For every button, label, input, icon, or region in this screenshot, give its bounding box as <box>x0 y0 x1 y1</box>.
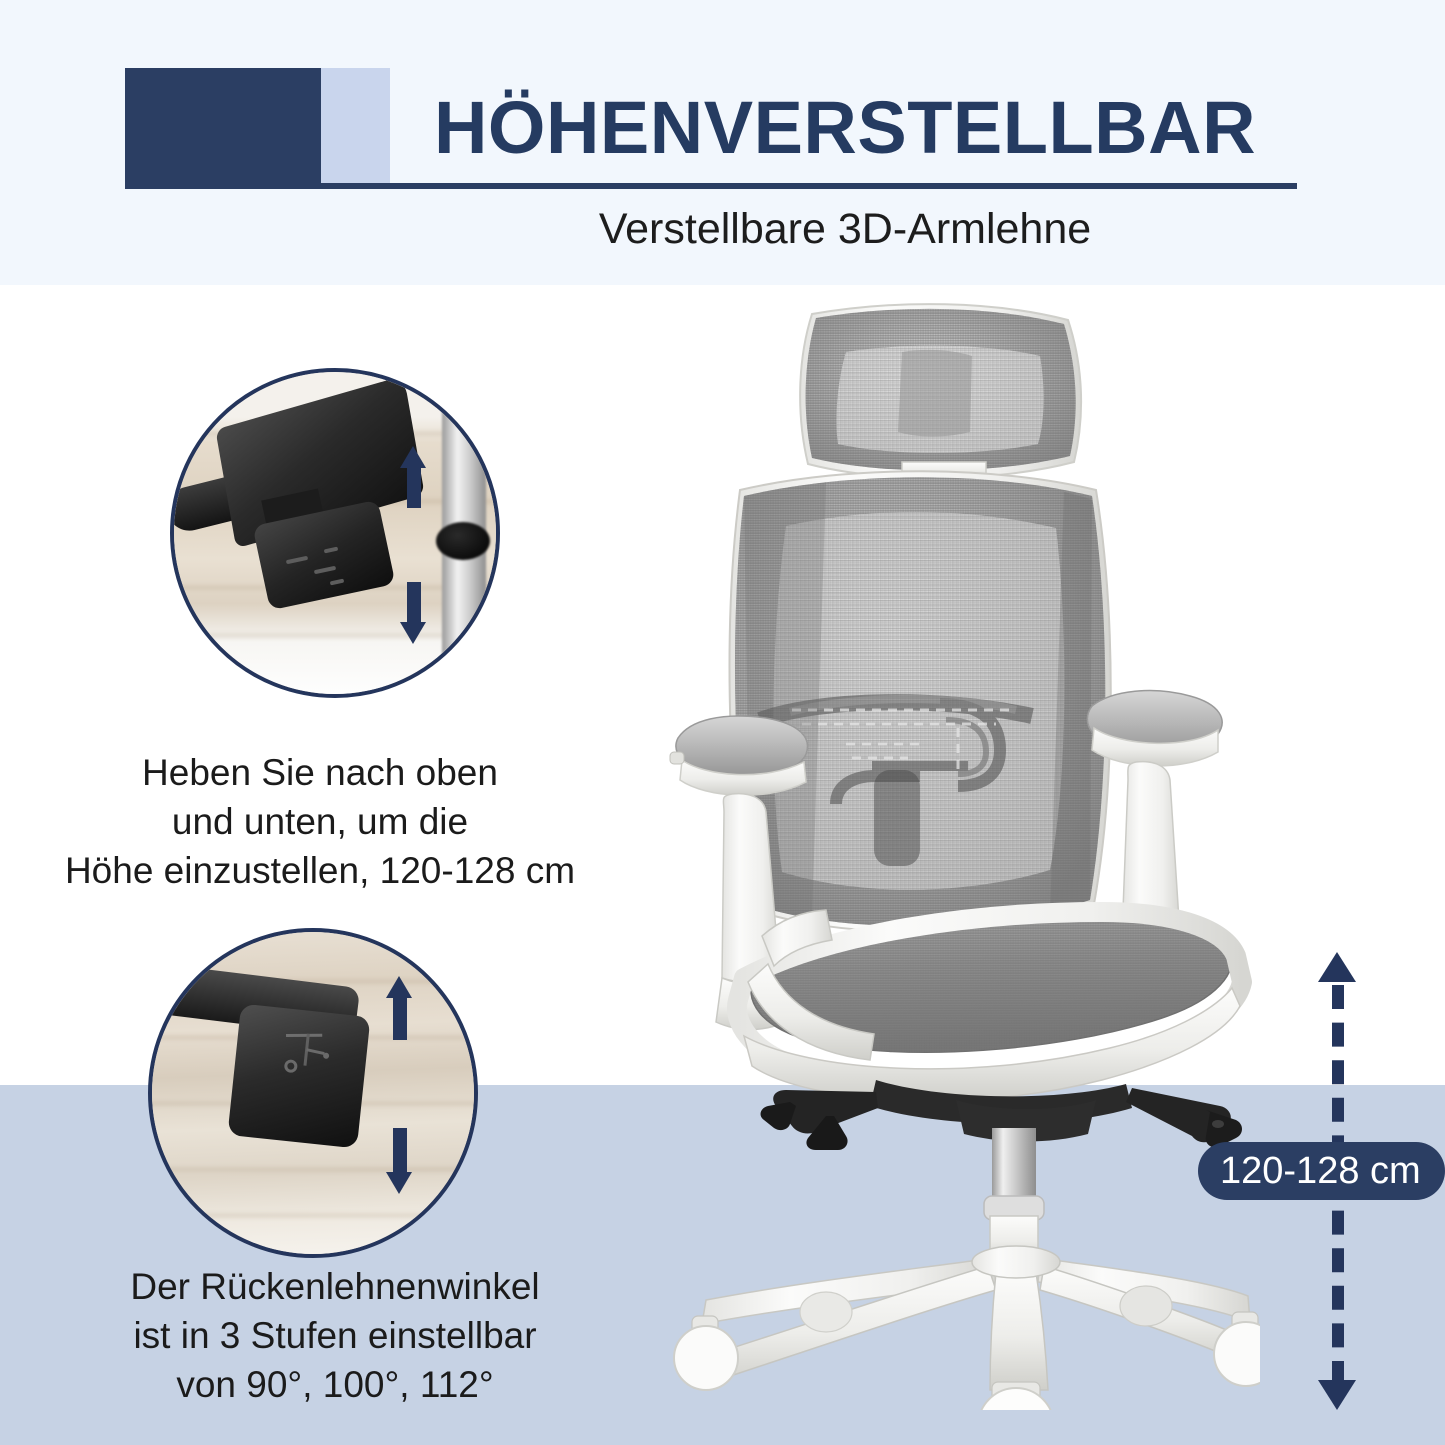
up-arrow-icon <box>386 976 412 1040</box>
caption-line: Höhe einzustellen, 120-128 cm <box>20 846 620 895</box>
measurement-arrow-up-icon <box>1318 952 1356 982</box>
header-divider-rule <box>125 183 1297 189</box>
caption-line: und unten, um die <box>20 797 620 846</box>
chair-caster <box>674 1316 738 1390</box>
header-accent-block-light <box>321 68 390 186</box>
chair-gas-lift-column <box>984 1128 1044 1262</box>
chair-base <box>674 1246 1260 1410</box>
detail-callout-arm-height-lever <box>170 368 500 698</box>
chair-seat <box>737 908 1242 1101</box>
chair-caster <box>1214 1312 1260 1386</box>
caption-line: ist in 3 Stufen einstellbar <box>55 1311 615 1360</box>
chair-backrest <box>720 460 1130 960</box>
caption-line: Der Rückenlehnenwinkel <box>55 1262 615 1311</box>
detail-caption-backrest-tilt: Der Rückenlehnenwinkel ist in 3 Stufen e… <box>55 1262 615 1410</box>
measurement-badge: 120-128 cm <box>1198 1142 1445 1200</box>
down-arrow-icon <box>386 1128 412 1194</box>
header-accent-block-dark <box>125 68 321 186</box>
caption-line: von 90°, 100°, 112° <box>55 1360 615 1409</box>
header-banner: HÖHENVERSTELLBAR Verstellbare 3D-Armlehn… <box>0 0 1445 285</box>
up-arrow-icon <box>400 446 426 508</box>
infographic-page: HÖHENVERSTELLBAR Verstellbare 3D-Armlehn… <box>0 0 1445 1445</box>
caption-line: Heben Sie nach oben <box>20 748 620 797</box>
page-title: HÖHENVERSTELLBAR <box>390 79 1300 177</box>
cylinder-collar-in-photo <box>436 522 490 560</box>
chair-headrest <box>800 300 1090 490</box>
detail-callout-backrest-tilt-lever <box>148 928 478 1258</box>
page-subtitle: Verstellbare 3D-Armlehne <box>390 196 1300 262</box>
detail-caption-arm-height: Heben Sie nach oben und unten, um die Hö… <box>20 748 620 896</box>
down-arrow-icon <box>400 582 426 644</box>
tilt-symbol-icon <box>278 1029 341 1083</box>
measurement-arrow-down-icon <box>1318 1380 1356 1410</box>
product-illustration-office-chair <box>640 300 1260 1410</box>
